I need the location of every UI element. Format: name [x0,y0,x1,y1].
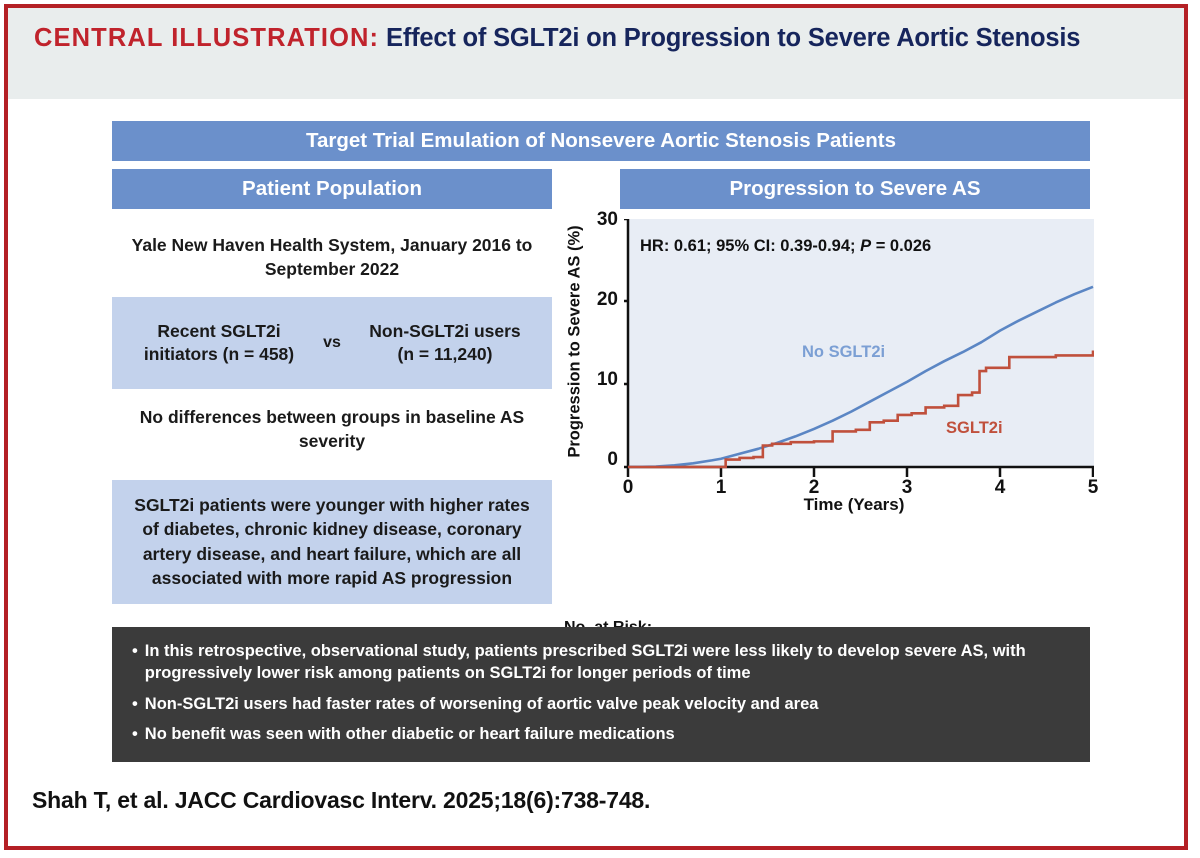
comparison-box: Recent SGLT2i initiators (n = 458) vs No… [112,297,552,389]
chart-x-axis-label: Time (Years) [624,495,1084,515]
takeaway-text: No benefit was seen with other diabetic … [145,724,675,746]
hr-annotation-pre: HR: 0.61; 95% CI: 0.39-0.94; [640,237,860,255]
takeaway-text: Non-SGLT2i users had faster rates of wor… [145,694,819,716]
data-source-text: Yale New Haven Health System, January 20… [112,217,552,293]
versus-label: vs [317,334,347,352]
takeaway-item: •In this retrospective, observational st… [132,641,1070,685]
page-title-text: Effect of SGLT2i on Progression to Sever… [386,24,1080,52]
key-takeaways-box: •In this retrospective, observational st… [112,627,1090,762]
hr-annotation-p: P [860,237,871,255]
takeaway-item: •Non-SGLT2i users had faster rates of wo… [132,694,1070,716]
hazard-ratio-annotation: HR: 0.61; 95% CI: 0.39-0.94; P = 0.026 [640,237,931,256]
covariate-note-box: SGLT2i patients were younger with higher… [112,480,552,604]
citation: Shah T, et al. JACC Cardiovasc Interv. 2… [32,787,650,814]
panel-header-progression: Progression to Severe AS [620,169,1090,209]
illustration-frame: CENTRAL ILLUSTRATION: Effect of SGLT2i o… [4,4,1188,850]
hr-annotation-post: = 0.026 [871,237,931,255]
header-band: CENTRAL ILLUSTRATION: Effect of SGLT2i o… [8,8,1184,99]
illustration-body: Target Trial Emulation of Nonsevere Aort… [8,99,1184,846]
bullet-icon: • [132,641,138,685]
curve-label-no-sglt2i: No SGLT2i [802,343,885,362]
central-illustration-label: CENTRAL ILLUSTRATION: [34,24,379,52]
y-tick-10: 10 [578,369,618,391]
chart-y-axis-label: Progression to Severe AS (%) [562,211,588,471]
patient-population-panel: Yale New Haven Health System, January 20… [112,217,552,604]
baseline-severity-note: No differences between groups in baselin… [112,389,552,465]
group-non-sglt2i-users: Non-SGLT2i users (n = 11,240) [360,320,530,367]
group-sglt2i-initiators: Recent SGLT2i initiators (n = 458) [134,320,304,367]
panel-header-main: Target Trial Emulation of Nonsevere Aort… [112,121,1090,161]
takeaway-text: In this retrospective, observational stu… [145,641,1070,685]
curve-label-sglt2i: SGLT2i [946,419,1003,438]
y-tick-30: 30 [578,209,618,231]
panel-header-patient-population: Patient Population [112,169,552,209]
progression-chart: Progression to Severe AS (%) 30 20 10 0 [564,211,1094,631]
y-tick-20: 20 [578,289,618,311]
page-title: CENTRAL ILLUSTRATION: Effect of SGLT2i o… [34,22,1158,55]
bullet-icon: • [132,724,138,746]
y-tick-0: 0 [578,449,618,471]
takeaway-item: •No benefit was seen with other diabetic… [132,724,1070,746]
bullet-icon: • [132,694,138,716]
